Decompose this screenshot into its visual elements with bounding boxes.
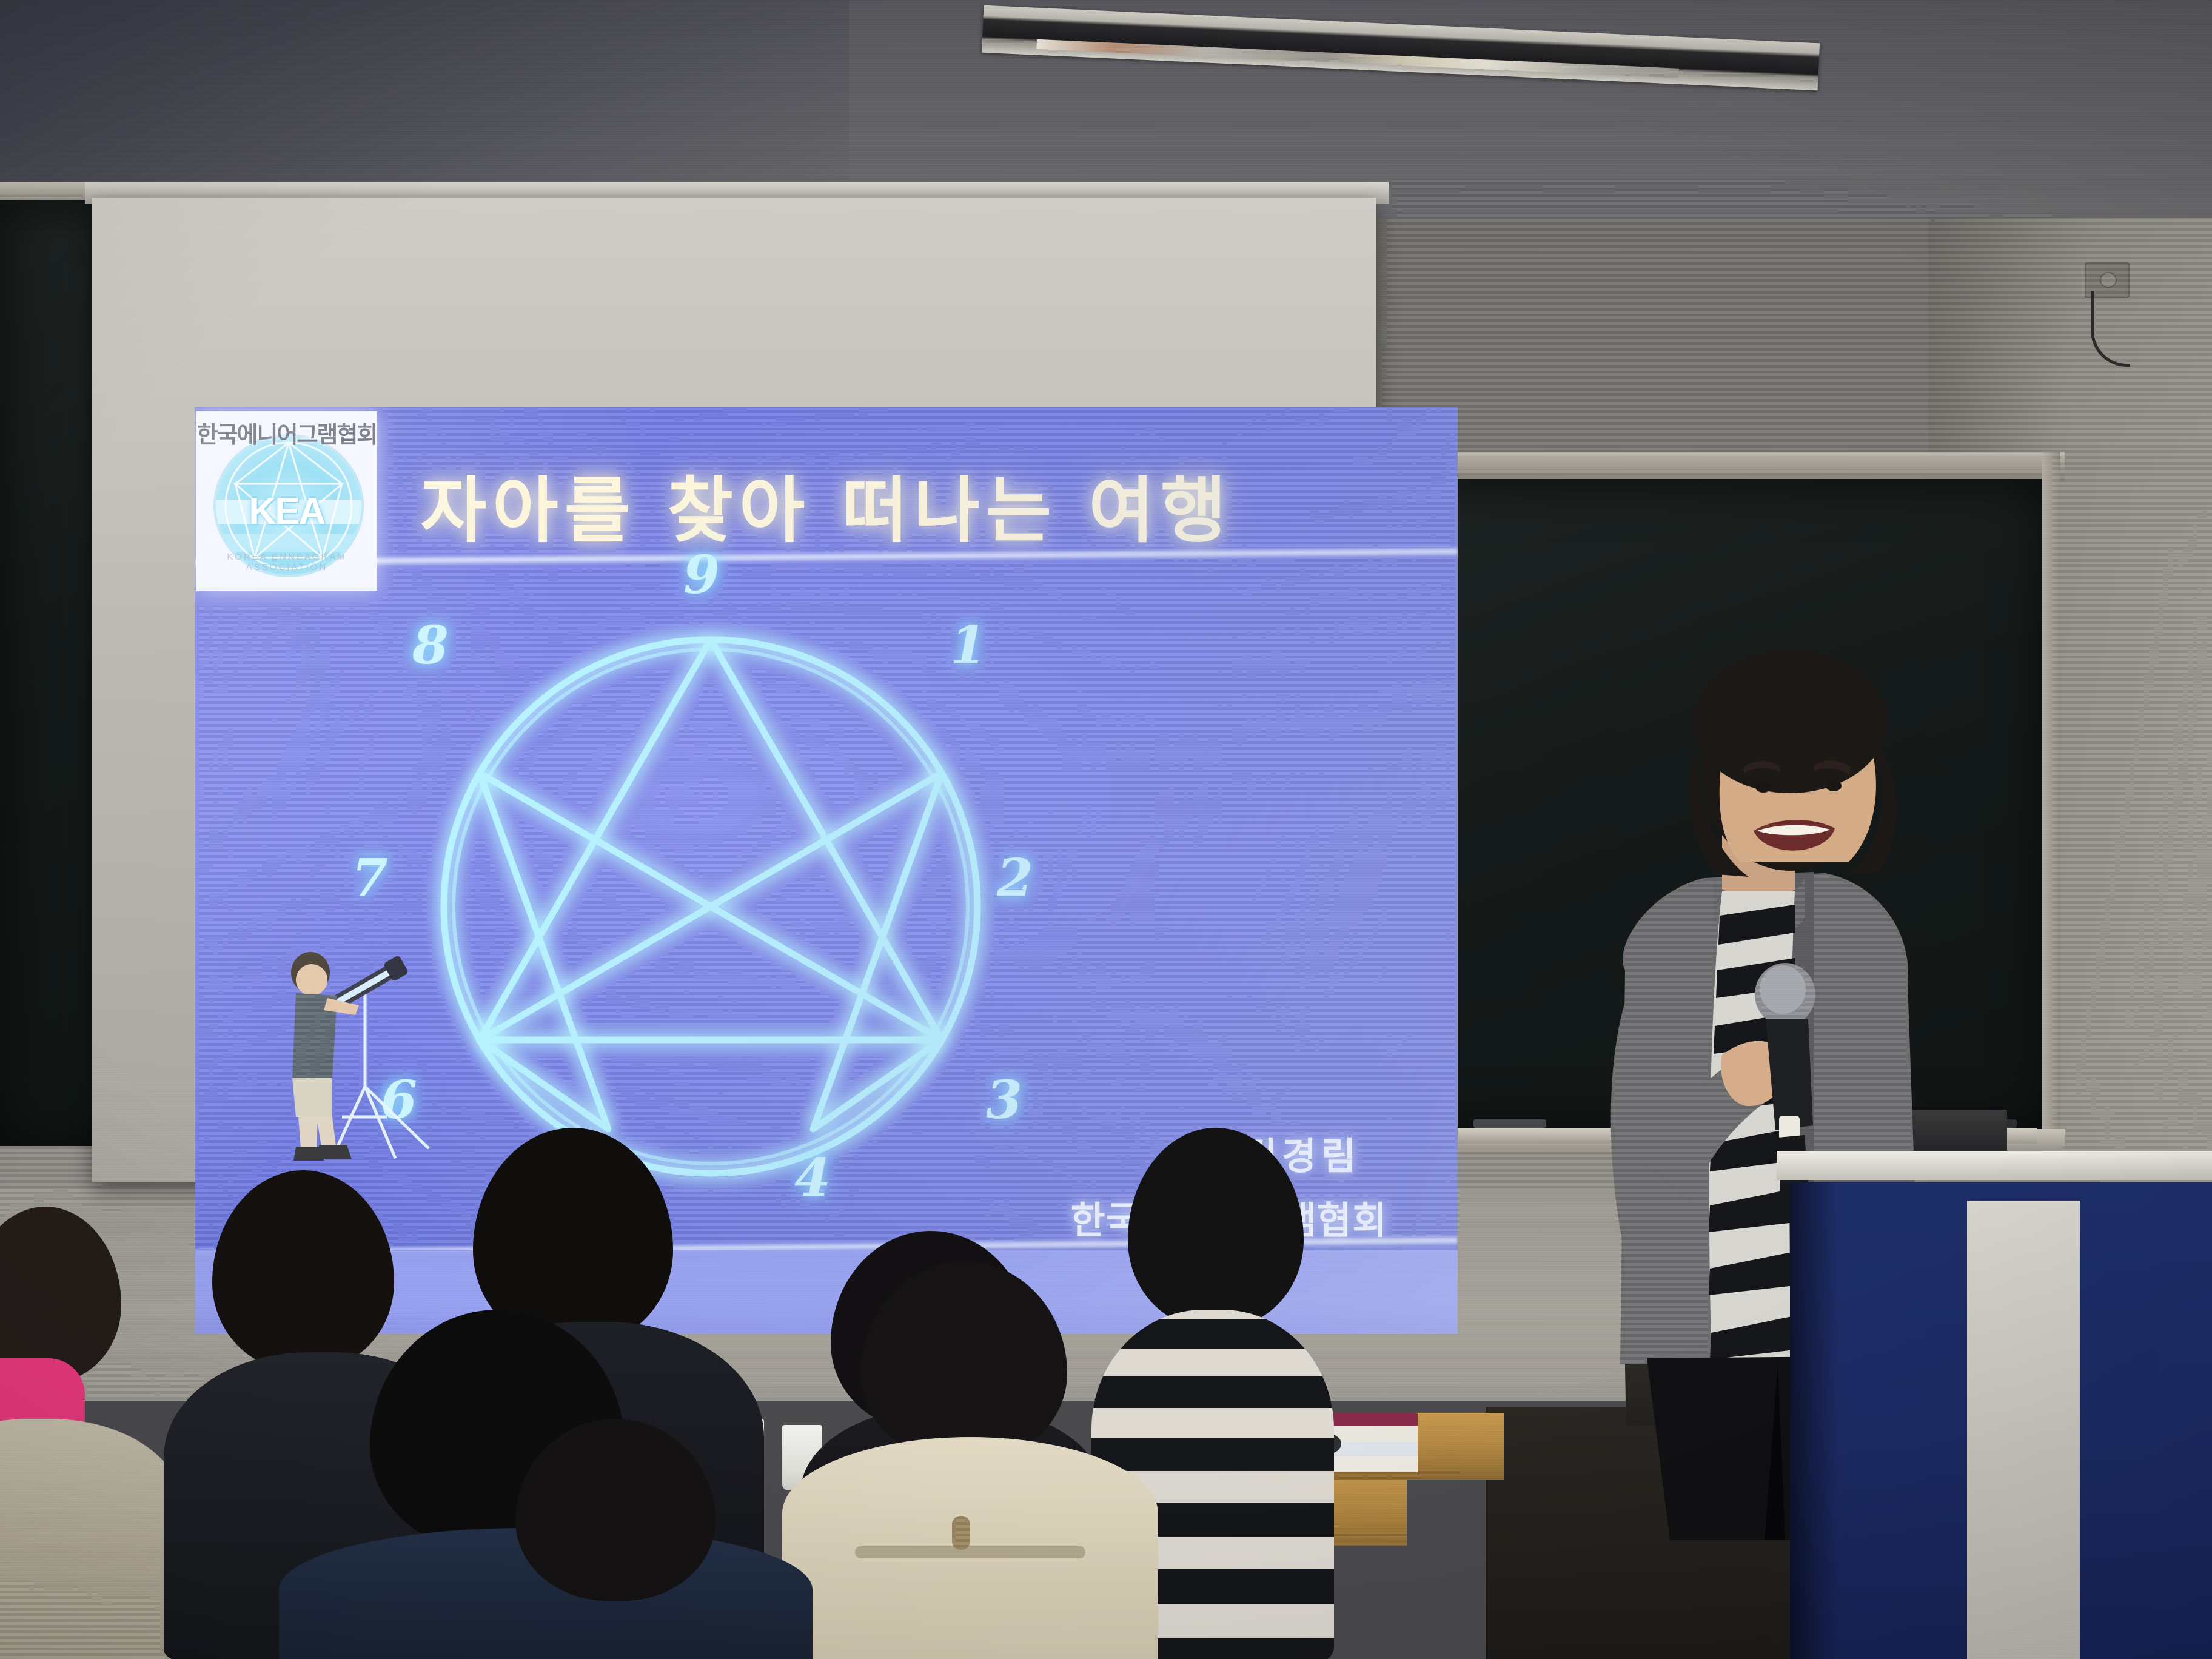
enneagram-number-8: 8 [412, 615, 449, 676]
logo-mark: KEA [196, 490, 377, 533]
attendee-head [861, 1261, 1067, 1461]
attendee-trench-coat [782, 1437, 1158, 1659]
enneagram-number-4: 4 [794, 1147, 831, 1208]
enneagram-number-1: 1 [950, 615, 987, 676]
right-chalkboard-frame-top [1379, 452, 2065, 481]
outlet-socket-icon [2100, 272, 2117, 288]
ceiling-shadow [0, 0, 849, 200]
list-item [515, 1419, 770, 1659]
coat-belt [855, 1546, 1085, 1558]
podium-shading [1790, 1182, 1838, 1659]
slide-title: 자아를 찾아 떠나는 여행 [195, 452, 1458, 556]
photo-scene: 자아를 찾아 떠나는 여행 한국에니어그램협회 KEA [0, 0, 2212, 1659]
child-with-telescope-illustration [274, 935, 444, 1165]
enneagram-number-7: 7 [352, 848, 388, 909]
list-item [758, 1261, 1182, 1659]
coat-button [952, 1516, 970, 1550]
eraser [1473, 1119, 1546, 1128]
telescope-icon [274, 935, 444, 1165]
projection-screen-frame: 자아를 찾아 떠나는 여행 한국에니어그램협회 KEA [92, 198, 1376, 1182]
logo-korean-label: 한국에니어그램협회 [196, 416, 377, 449]
podium-stripe [1967, 1201, 2080, 1659]
kea-logo: 한국에니어그램협회 KEA KOREA ENNEAGRAM ASSOCIATIO… [196, 411, 377, 591]
enneagram-number-9: 9 [683, 545, 720, 606]
logo-arc-label: KOREA ENNEAGRAM ASSOCIATION [196, 552, 377, 572]
podium-top [1777, 1151, 2212, 1180]
right-chalkboard-frame-side [2042, 452, 2060, 1155]
enneagram-number-2: 2 [997, 848, 1033, 909]
attendee-head [0, 1207, 121, 1382]
attendee-head [515, 1419, 716, 1601]
attendee-coat [0, 1419, 182, 1659]
enneagram-number-3: 3 [986, 1070, 1022, 1131]
